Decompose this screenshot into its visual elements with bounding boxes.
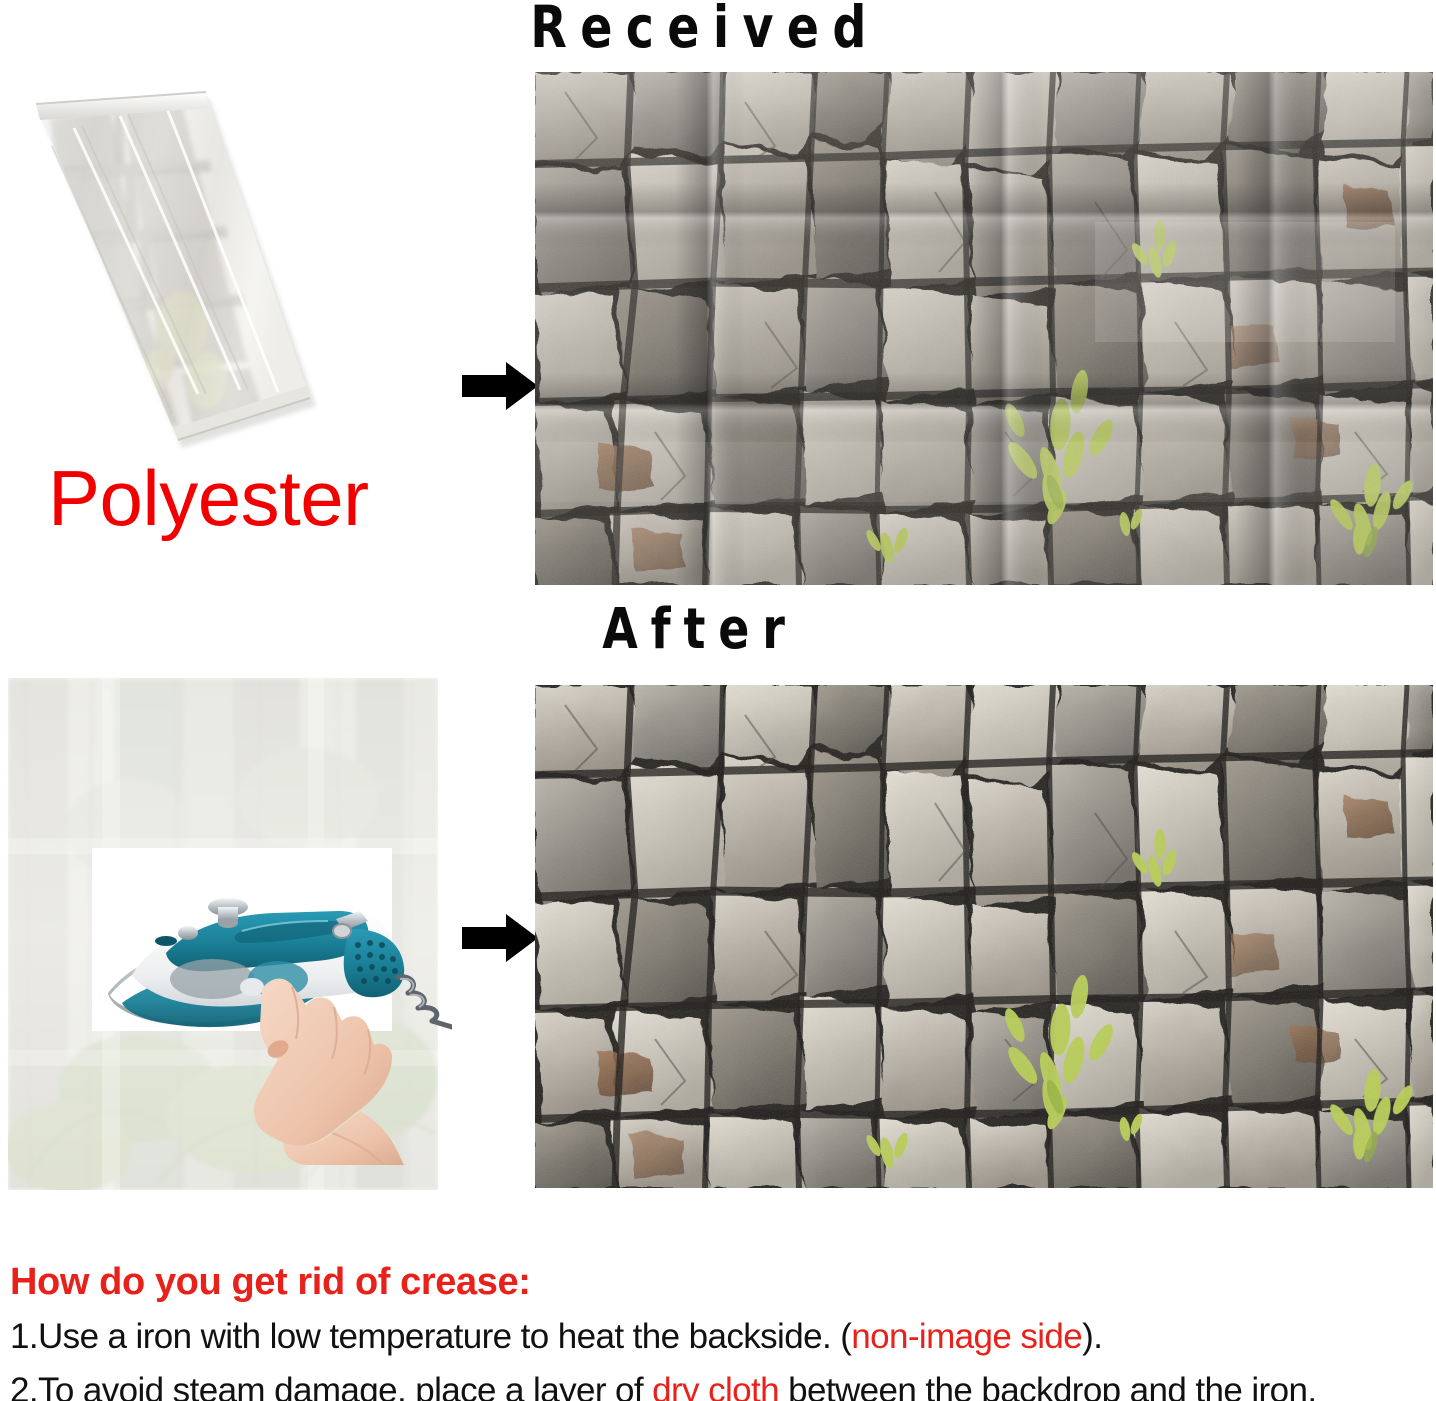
care-step-2-highlight: dry cloth bbox=[652, 1371, 779, 1401]
right-arrow-icon bbox=[462, 912, 538, 964]
care-heading: How do you get rid of crease: bbox=[10, 1258, 1430, 1306]
care-step-1-highlight: non-image side bbox=[851, 1317, 1082, 1356]
care-step-2-tail: between the backdrop and the iron. bbox=[779, 1371, 1316, 1401]
rock-texture bbox=[535, 685, 1433, 1188]
care-step-2: 2.To avoid steam damage, place a layer o… bbox=[10, 1368, 1430, 1401]
section-title-after: After bbox=[470, 600, 929, 660]
care-step-1: 1.Use a iron with low temperature to hea… bbox=[10, 1314, 1430, 1360]
rock-texture bbox=[535, 72, 1433, 585]
infographic-canvas: Polyester Received bbox=[0, 0, 1436, 1401]
care-instructions: How do you get rid of crease: 1.Use a ir… bbox=[10, 1258, 1430, 1401]
received-backdrop-image bbox=[535, 72, 1433, 585]
after-backdrop-image bbox=[535, 685, 1433, 1188]
care-step-2-text: 2.To avoid steam damage, place a layer o… bbox=[10, 1371, 652, 1401]
section-title-received: Received bbox=[439, 0, 972, 58]
folded-fabric-icon bbox=[10, 68, 410, 488]
care-step-1-text: 1.Use a iron with low temperature to hea… bbox=[10, 1317, 851, 1356]
care-step-1-tail: ). bbox=[1082, 1317, 1102, 1356]
steam-iron-icon bbox=[92, 845, 452, 1165]
right-arrow-icon bbox=[462, 360, 538, 412]
material-label: Polyester bbox=[48, 455, 369, 541]
